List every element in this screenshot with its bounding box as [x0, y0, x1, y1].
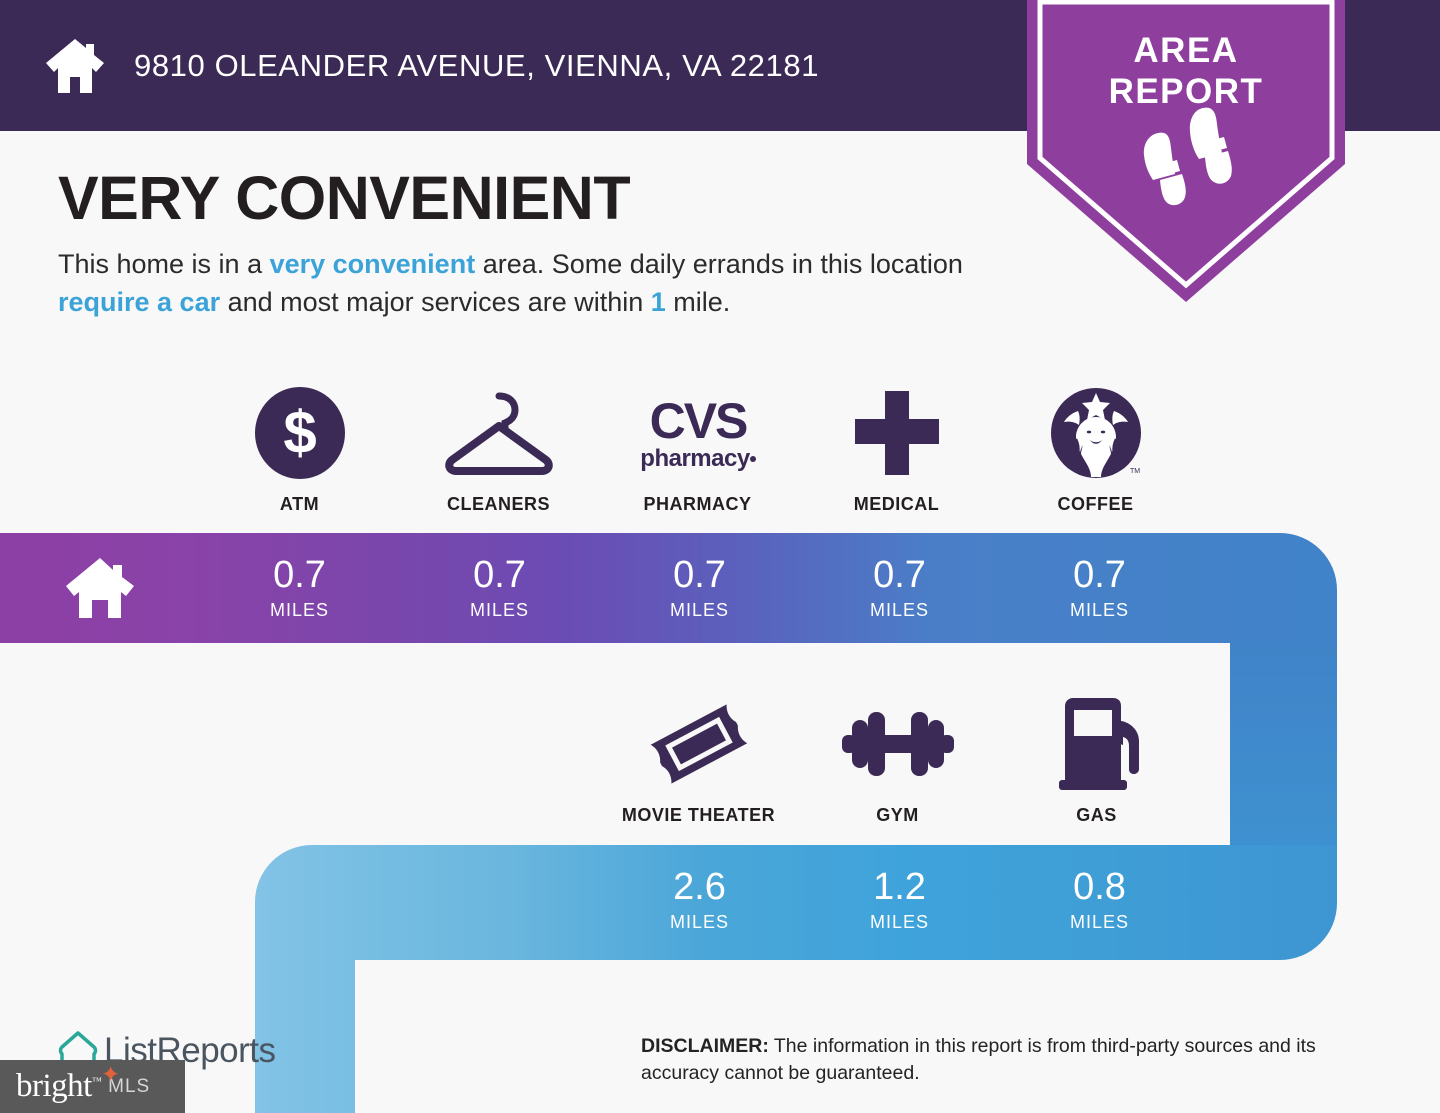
disclaimer-label: DISCLAIMER:	[641, 1035, 769, 1057]
distance-unit: MILES	[1070, 600, 1129, 621]
distance-value: 0.7	[673, 556, 726, 594]
distance-unit: MILES	[670, 912, 729, 933]
bright-star-icon: ✦	[101, 1063, 120, 1086]
home-marker-cell	[0, 533, 199, 643]
distance-cell-movie-theater: 2.6 MILES	[600, 845, 799, 955]
distance-unit: MILES	[870, 600, 929, 621]
distance-unit: MILES	[1070, 912, 1129, 933]
distance-unit: MILES	[470, 600, 529, 621]
distance-cell-coffee: 0.7 MILES	[1000, 533, 1199, 643]
distance-value: 0.7	[473, 556, 526, 594]
distance-value: 2.6	[673, 868, 726, 906]
distance-cell-cleaners: 0.7 MILES	[400, 533, 599, 643]
distance-cell-atm: 0.7 MILES	[200, 533, 399, 643]
area-report-badge: AREA REPORT	[1027, 0, 1345, 304]
disclaimer: DISCLAIMER: The information in this repo…	[641, 1033, 1381, 1088]
distance-value: 1.2	[873, 868, 926, 906]
distance-value: 0.8	[1073, 868, 1126, 906]
home-icon	[64, 555, 136, 621]
distance-unit: MILES	[670, 600, 729, 621]
distance-unit: MILES	[870, 912, 929, 933]
trademark-symbol: ™	[92, 1076, 101, 1087]
bright-wordmark: bright™	[16, 1068, 101, 1105]
distance-cell-gym: 1.2 MILES	[800, 845, 999, 955]
bright-text: bright	[16, 1068, 92, 1104]
bright-mls-watermark: bright™ MLS	[0, 1060, 185, 1113]
distance-value: 0.7	[1073, 556, 1126, 594]
distance-value: 0.7	[873, 556, 926, 594]
distance-value: 0.7	[273, 556, 326, 594]
distance-unit: MILES	[270, 600, 329, 621]
distance-cell-pharmacy: 0.7 MILES	[600, 533, 799, 643]
distance-cell-gas: 0.8 MILES	[1000, 845, 1199, 955]
distance-cell-medical: 0.7 MILES	[800, 533, 999, 643]
